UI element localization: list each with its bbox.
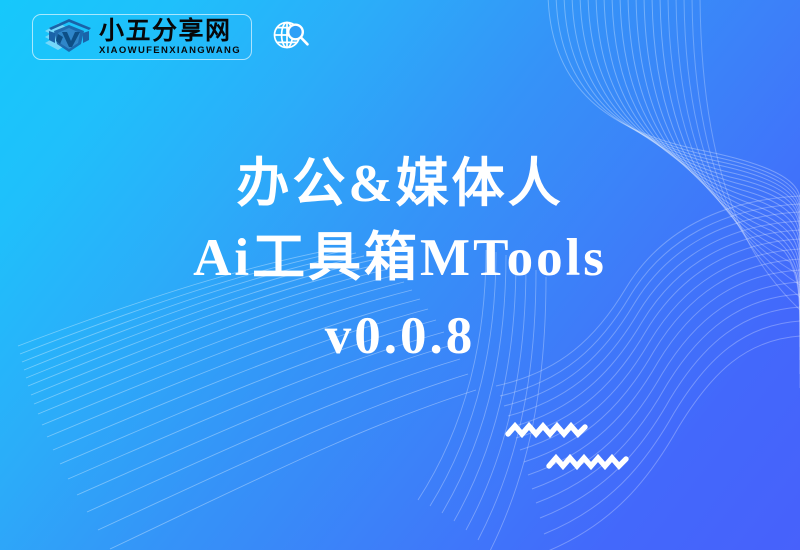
poster-canvas: 小五分享网 XIAOWUFENXIANGWANG 办公&媒体人 Ai工具箱	[0, 0, 800, 550]
logo-name-cn: 小五分享网	[99, 19, 241, 44]
zigzag-decoration	[505, 420, 655, 480]
hexagon-shield-logo-icon	[41, 17, 97, 57]
globe-search-icon[interactable]	[270, 16, 312, 58]
logo-name-pinyin: XIAOWUFENXIANGWANG	[99, 45, 241, 56]
logo-badge[interactable]: 小五分享网 XIAOWUFENXIANGWANG	[32, 14, 252, 60]
headline-line-3: v0.0.8	[0, 296, 800, 376]
headline-line-1: 办公&媒体人	[0, 148, 800, 220]
brand-bar: 小五分享网 XIAOWUFENXIANGWANG	[32, 14, 312, 60]
logo-text-block: 小五分享网 XIAOWUFENXIANGWANG	[99, 19, 241, 56]
headline-block: 办公&媒体人 Ai工具箱MTools v0.0.8	[0, 148, 800, 376]
headline-line-2: Ai工具箱MTools	[0, 220, 800, 296]
